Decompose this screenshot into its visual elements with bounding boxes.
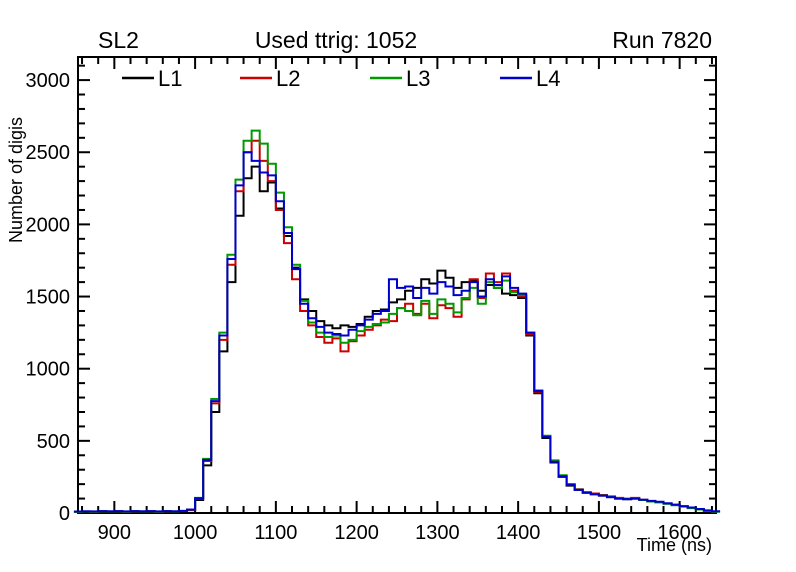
histogram-figure: SL2 Used ttrig: 1052 Run 7820 Number of … <box>0 0 796 572</box>
series-line-l2 <box>74 141 720 512</box>
y-axis-tick-label: 2500 <box>26 142 71 164</box>
x-axis-tick-label: 1400 <box>496 522 541 544</box>
y-axis-tick-labels: 050010001500200025003000 <box>26 70 71 525</box>
run-label: Run 7820 <box>612 27 712 53</box>
y-axis-tick-label: 1500 <box>26 287 71 309</box>
legend-label-l1: L1 <box>158 66 182 91</box>
y-axis-tick-label: 500 <box>37 431 70 453</box>
series-line-l1 <box>74 167 720 512</box>
x-axis-tick-label: 1000 <box>173 522 218 544</box>
superlayer-label: SL2 <box>98 27 139 53</box>
legend-label-l3: L3 <box>406 66 430 91</box>
x-axis-tick-label: 1200 <box>334 522 379 544</box>
series-line-l4 <box>74 152 720 511</box>
x-axis-tick-labels: 9001000110012001300140015001600 <box>98 522 702 544</box>
data-series-group <box>74 131 720 512</box>
legend: L1L2L3L4 <box>122 66 560 91</box>
x-axis-tick-label: 1600 <box>657 522 702 544</box>
y-axis-tick-label: 2000 <box>26 214 71 236</box>
x-axis-tick-label: 1500 <box>577 522 622 544</box>
y-axis-title: Number of digis <box>6 117 26 243</box>
ttrig-label: Used ttrig: 1052 <box>255 27 417 53</box>
x-axis-tick-label: 900 <box>98 522 131 544</box>
legend-label-l2: L2 <box>276 66 300 91</box>
legend-label-l4: L4 <box>536 66 560 91</box>
x-axis-tick-label: 1100 <box>254 522 297 544</box>
y-axis-ticks <box>78 66 716 513</box>
y-axis-tick-label: 0 <box>59 503 70 525</box>
y-axis-tick-label: 3000 <box>26 70 71 92</box>
x-axis-tick-label: 1300 <box>415 522 460 544</box>
y-axis-tick-label: 1000 <box>26 359 71 381</box>
plot-canvas: SL2 Used ttrig: 1052 Run 7820 Number of … <box>0 0 796 572</box>
